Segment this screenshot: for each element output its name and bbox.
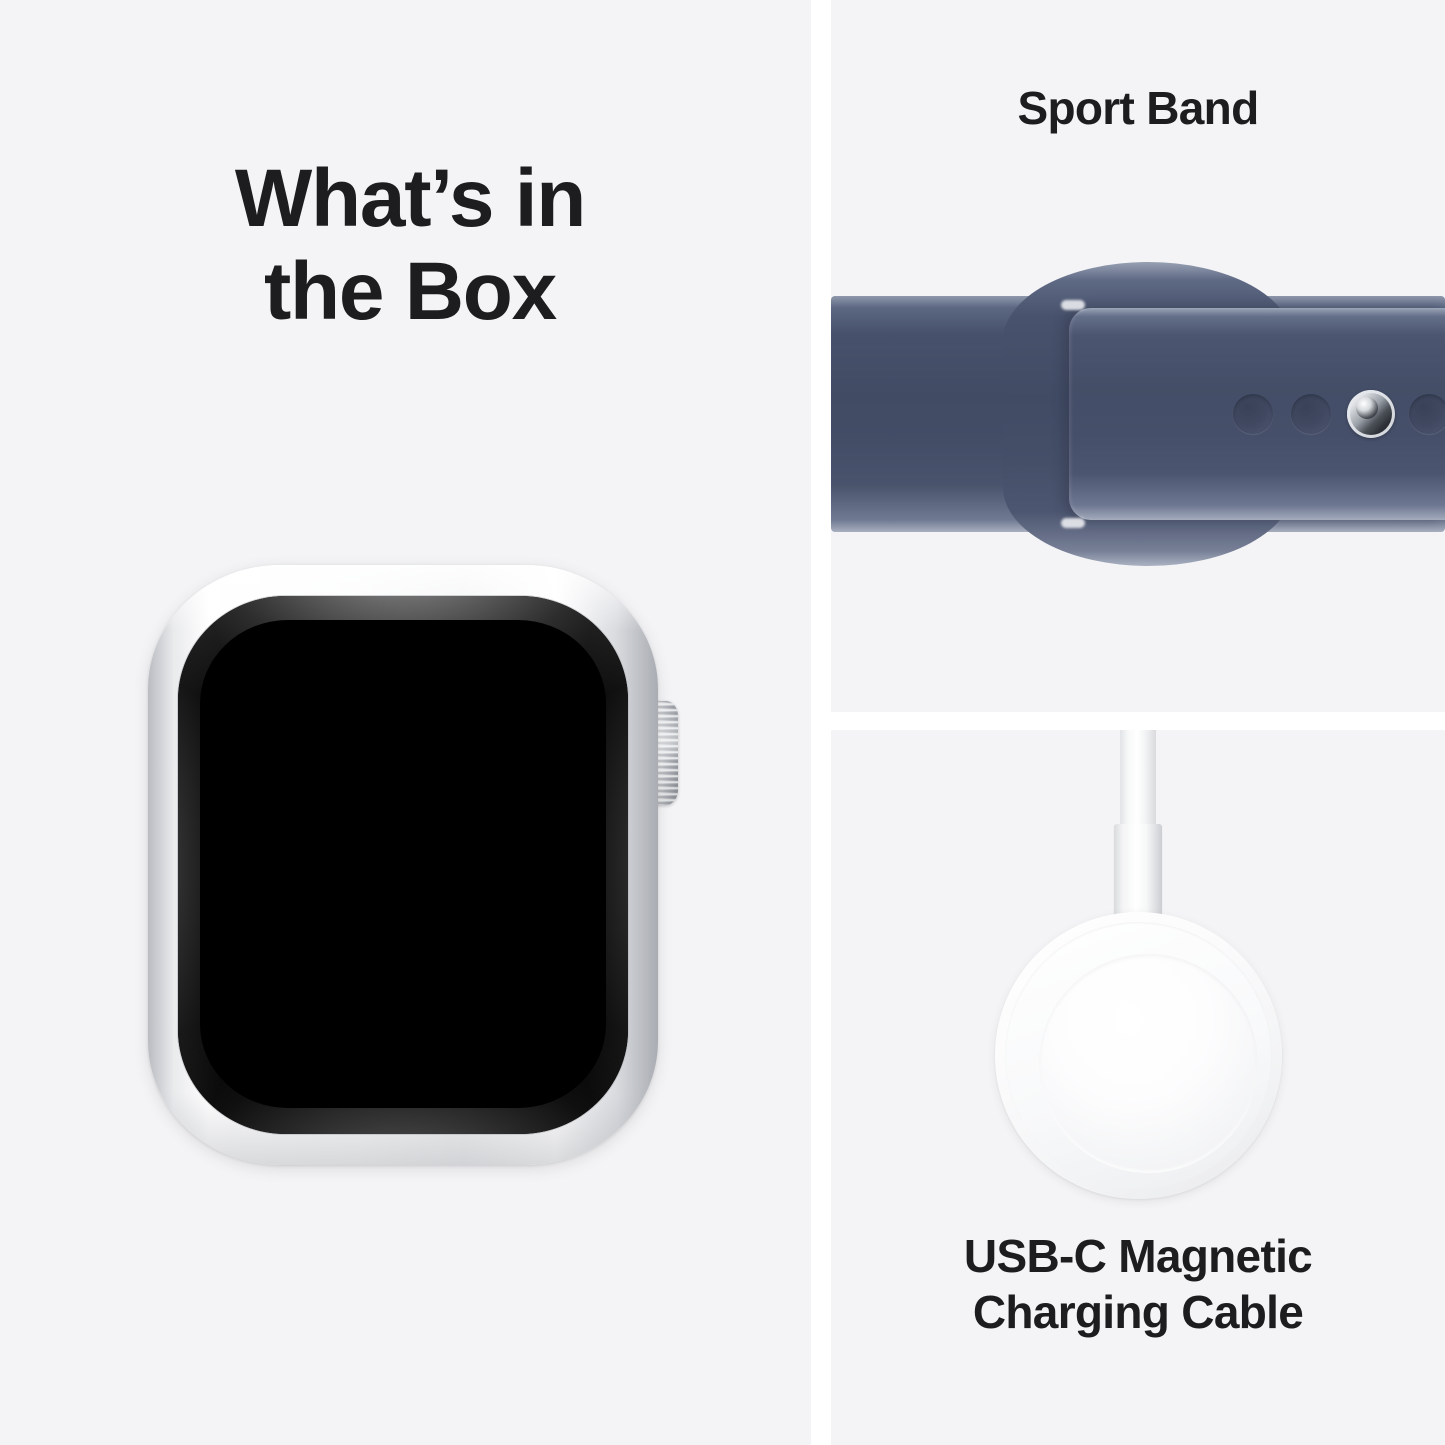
band-adjustment-hole: [1233, 394, 1273, 434]
magnetic-charger-puck: [995, 912, 1282, 1199]
band-adjustment-hole: [1291, 394, 1331, 434]
panel-watch: What’s in the Box: [0, 0, 811, 1445]
band-slot-top: [1061, 300, 1085, 310]
band-pin-icon: [1347, 390, 1395, 438]
watch-case: [148, 565, 658, 1165]
band-slot-bottom: [1061, 518, 1085, 528]
whats-in-the-box-figure: What’s in the Box Sport Band: [0, 0, 1445, 1445]
page-title: What’s in the Box: [130, 152, 690, 339]
sport-band-image: [831, 0, 1445, 712]
charger-puck-ring: [1005, 922, 1272, 1189]
charger-puck-face: [1039, 954, 1258, 1173]
watch-display: [178, 596, 628, 1134]
band-adjustment-hole: [1409, 394, 1445, 434]
cable-cord: [1120, 730, 1156, 830]
panel-charging-cable: USB-C Magnetic Charging Cable: [831, 730, 1445, 1445]
apple-watch-image: [148, 565, 708, 1165]
panel-sport-band: Sport Band: [831, 0, 1445, 712]
charging-cable-label: USB-C Magnetic Charging Cable: [873, 1228, 1403, 1340]
